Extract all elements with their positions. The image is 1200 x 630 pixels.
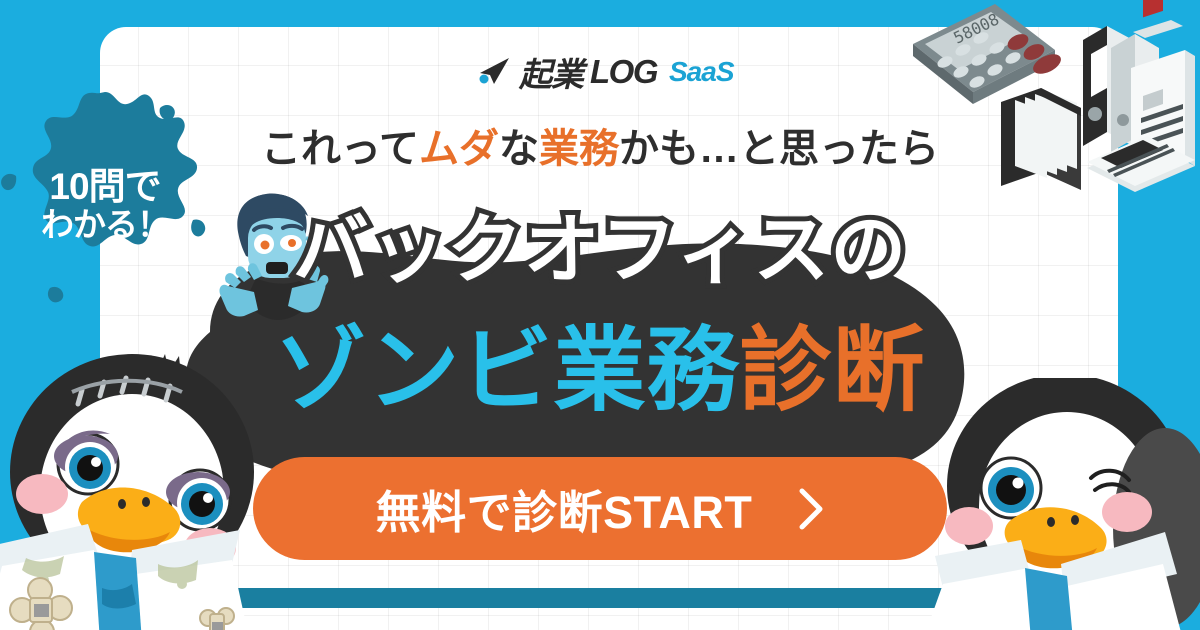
subhead-part2: な — [499, 127, 539, 171]
logo-text-saas: SaaS — [669, 56, 734, 88]
brand-logo[interactable]: 起業 LOG SaaS — [478, 48, 734, 96]
subhead-highlight1: ムダ — [419, 127, 499, 171]
healthy-penguin — [915, 378, 1200, 630]
logo-text-log: LOG — [590, 53, 657, 91]
subhead-part1: これって — [261, 127, 419, 171]
cta-label: 無料で診断START — [376, 476, 753, 541]
subhead-highlight2: 業務 — [539, 127, 619, 171]
paper-plane-icon — [478, 57, 512, 87]
hero-banner: 58008 — [0, 0, 1200, 630]
zombie-penguin — [0, 352, 302, 630]
chevron-right-icon — [798, 487, 824, 531]
sub-headline: これってムダな業務かも…と思ったら — [0, 116, 1200, 174]
title-line-1: バックオフィスの — [0, 188, 1200, 298]
title-line2-cyan: ゾンビ業務 — [274, 320, 739, 422]
subhead-part3: かも…と思ったら — [619, 127, 939, 171]
title-line2-orange: 診断 — [740, 320, 926, 422]
logo-text-jp: 起業 — [519, 48, 583, 96]
start-diagnosis-button[interactable]: 無料で診断START — [253, 457, 947, 560]
